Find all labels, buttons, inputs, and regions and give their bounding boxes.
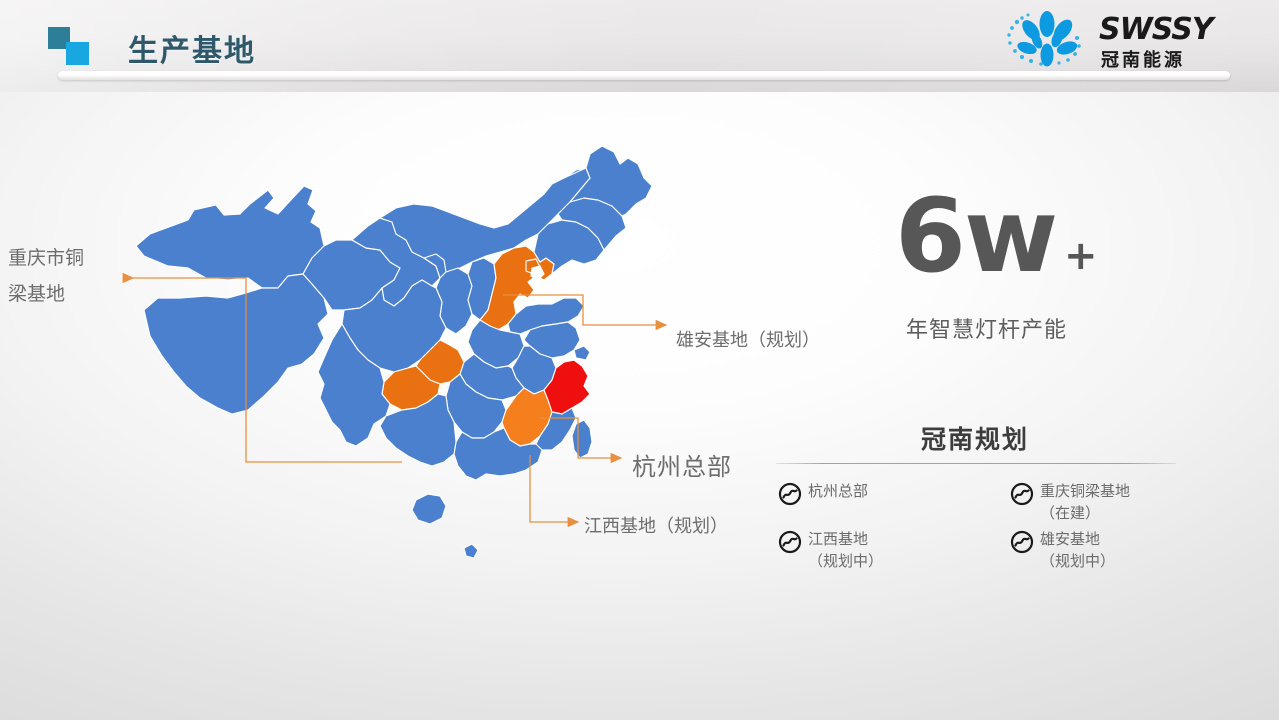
china-provinces-map	[128, 128, 688, 578]
plan-node-icon	[778, 482, 802, 506]
map-label-chongqing-line2: 梁基地	[8, 276, 112, 312]
map-label-chongqing: 重庆市铜 梁基地	[8, 240, 112, 312]
capacity-stat-suffix: +	[1064, 233, 1098, 279]
page-title: 生产基地	[128, 26, 256, 70]
map-label-xiongan: 雄安基地（规划）	[676, 326, 820, 352]
slide-root: 生产基地 S	[0, 0, 1279, 720]
plan-item-label: 江西基地 （规划中）	[808, 528, 883, 572]
plan-panel: 冠南规划 杭州总部 重庆铜梁基地 （在建） 江西基地 （规划中）	[770, 420, 1180, 600]
province-tibet	[144, 274, 328, 414]
plan-panel-divider	[776, 463, 1176, 464]
plan-node-icon	[1010, 530, 1034, 554]
capacity-stat-block: 6w + 年智慧灯杆产能	[895, 186, 1195, 346]
china-map-container	[128, 128, 688, 578]
header-divider-bar	[58, 71, 1230, 80]
map-label-chongqing-line1: 重庆市铜	[8, 240, 112, 276]
province-taiwan	[572, 420, 592, 458]
city-shanghai	[574, 346, 590, 360]
decorative-square-light-icon	[66, 42, 89, 65]
map-label-jiangxi: 江西基地（规划）	[584, 512, 728, 538]
brand-name-cn: 冠南能源	[1101, 46, 1185, 72]
capacity-stat-caption: 年智慧灯杆产能	[906, 312, 1067, 344]
plan-panel-title: 冠南规划	[770, 420, 1180, 456]
capacity-stat-number: 6w	[895, 186, 1056, 288]
plan-node-icon	[778, 530, 802, 554]
plan-node-icon	[1010, 482, 1034, 506]
brand-logo: SWSSY 冠南能源	[1001, 8, 1261, 70]
plan-item-label: 重庆铜梁基地 （在建）	[1040, 480, 1130, 524]
south-china-sea-islands	[464, 544, 478, 558]
brand-name-en: SWSSY	[1099, 12, 1213, 47]
plan-item-label: 杭州总部	[808, 480, 868, 502]
company-logo-droplet-icon	[1001, 10, 1093, 68]
province-hainan	[412, 494, 446, 524]
plan-item-label: 雄安基地 （规划中）	[1040, 528, 1115, 572]
province-xinjiang	[136, 186, 324, 288]
map-label-hangzhou: 杭州总部	[632, 447, 732, 482]
